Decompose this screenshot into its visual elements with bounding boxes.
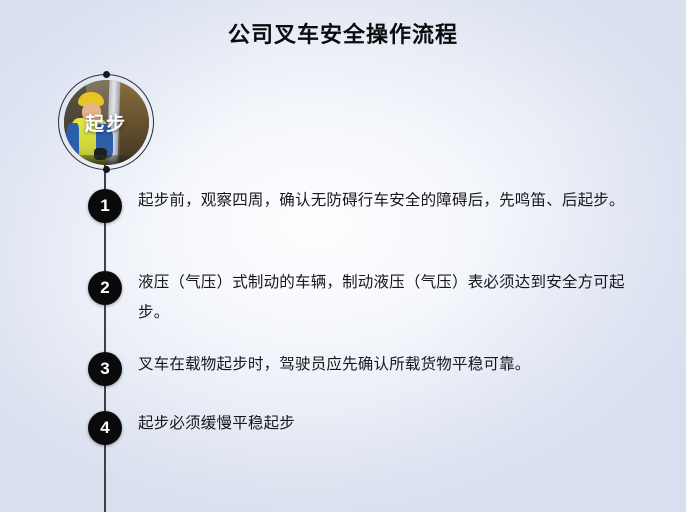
hero-label: 起步 xyxy=(58,74,154,170)
hero-dot-top-icon xyxy=(103,71,110,78)
slide-canvas: 公司叉车安全操作流程 起步 1 起步前，观察四周，确认无防碍行车安全的障碍后，先… xyxy=(0,0,686,512)
step-text: 起步必须缓慢平稳起步 xyxy=(138,409,643,439)
step-number-badge: 1 xyxy=(88,189,122,223)
step-text: 叉车在载物起步时，驾驶员应先确认所载货物平稳可靠。 xyxy=(138,350,643,380)
step-number-badge: 3 xyxy=(88,352,122,386)
step-number-badge: 2 xyxy=(88,271,122,305)
page-title: 公司叉车安全操作流程 xyxy=(0,17,686,49)
hero-dot-bottom-icon xyxy=(103,166,110,173)
step-text: 起步前，观察四周，确认无防碍行车安全的障碍后，先鸣笛、后起步。 xyxy=(138,186,643,216)
hero-photo-badge: 起步 xyxy=(58,74,158,174)
step-number-badge: 4 xyxy=(88,411,122,445)
step-text: 液压（气压）式制动的车辆，制动液压（气压）表必须达到安全方可起步。 xyxy=(138,268,643,328)
